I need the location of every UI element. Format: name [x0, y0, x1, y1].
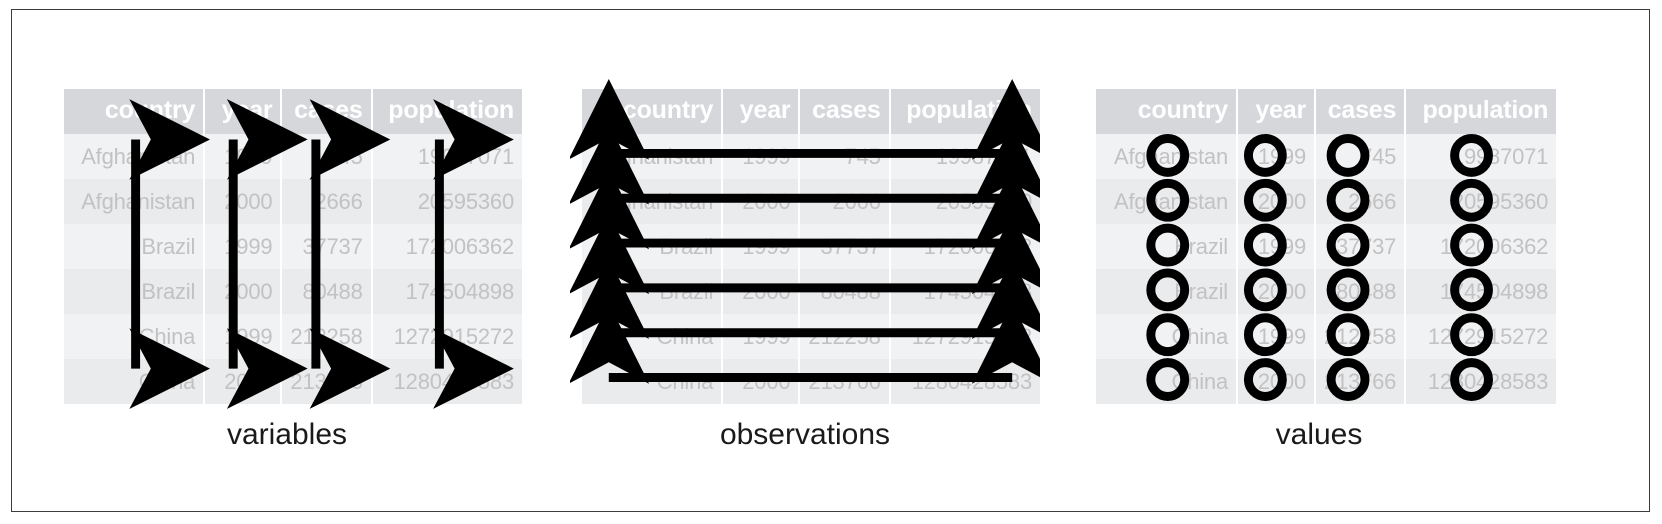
panel-observations: country year cases population Afghanista… [570, 10, 1040, 511]
cell-cases: 213766 [1316, 359, 1406, 404]
cell-cases: 212258 [282, 314, 372, 359]
cell-country: Afghanistan [64, 134, 205, 179]
cell-year: 1999 [205, 224, 282, 269]
cell-country: Afghanistan [582, 179, 723, 224]
cell-year: 2000 [1238, 359, 1316, 404]
table-row: Brazil 1999 37737 172006362 [64, 224, 522, 269]
cell-year: 1999 [205, 314, 282, 359]
table-row: China 2000 213766 1280428583 [1096, 359, 1556, 404]
table-row: Brazil 2000 80488 174504898 [1096, 269, 1556, 314]
cell-country: Brazil [582, 224, 723, 269]
column-header-country: country [1096, 89, 1238, 134]
column-header-country: country [64, 89, 205, 134]
cell-cases: 213766 [282, 359, 372, 404]
cell-year: 1999 [1238, 134, 1316, 179]
cell-country: China [64, 314, 205, 359]
table-row: China 1999 212258 1272915272 [1096, 314, 1556, 359]
table-row: Afghanistan 1999 745 19987071 [582, 134, 1040, 179]
table-row: Afghanistan 2000 2666 20595360 [582, 179, 1040, 224]
cell-population: 1272915272 [891, 314, 1040, 359]
cell-year: 2000 [723, 359, 800, 404]
table-header-row: country year cases population [64, 89, 522, 134]
column-header-year: year [205, 89, 282, 134]
cell-year: 2000 [205, 179, 282, 224]
cell-population: 174504898 [1406, 269, 1556, 314]
cell-cases: 80488 [800, 269, 890, 314]
cell-country: China [582, 314, 723, 359]
table-row: Brazil 2000 80488 174504898 [64, 269, 522, 314]
cell-country: Afghanistan [1096, 179, 1238, 224]
cell-population: 20595360 [373, 179, 522, 224]
cell-population: 172006362 [891, 224, 1040, 269]
cell-cases: 745 [282, 134, 372, 179]
cell-country: China [64, 359, 205, 404]
cell-population: 19987071 [373, 134, 522, 179]
cell-year: 2000 [1238, 269, 1316, 314]
column-header-year: year [723, 89, 800, 134]
cell-country: China [1096, 359, 1238, 404]
cell-country: China [1096, 314, 1238, 359]
table-header-row: country year cases population [582, 89, 1040, 134]
cell-cases: 80488 [1316, 269, 1406, 314]
cell-population: 172006362 [373, 224, 522, 269]
cell-cases: 37737 [1316, 224, 1406, 269]
column-header-country: country [582, 89, 723, 134]
cell-country: Brazil [64, 269, 205, 314]
cell-country: Afghanistan [582, 134, 723, 179]
table-row: Brazil 1999 37737 172006362 [582, 224, 1040, 269]
cell-year: 1999 [1238, 314, 1316, 359]
cell-cases: 2666 [800, 179, 890, 224]
column-header-population: population [891, 89, 1040, 134]
cell-country: Brazil [64, 224, 205, 269]
table-row: China 2000 213766 1280428583 [64, 359, 522, 404]
cell-year: 1999 [1238, 224, 1316, 269]
table-row: Afghanistan 1999 745 19987071 [64, 134, 522, 179]
table-row: Afghanistan 2000 2666 20595360 [64, 179, 522, 224]
data-table-variables: country year cases population Afghanista… [64, 89, 522, 404]
cell-year: 1999 [723, 134, 800, 179]
caption-values: values [1084, 418, 1554, 452]
cell-country: Afghanistan [1096, 134, 1238, 179]
cell-cases: 37737 [800, 224, 890, 269]
caption-observations: observations [570, 418, 1040, 452]
data-table-observations: country year cases population Afghanista… [582, 89, 1040, 404]
panel-values: country year cases population Afghanista… [1084, 10, 1629, 511]
figure-frame: country year cases population Afghanista… [11, 9, 1650, 512]
caption-variables: variables [52, 418, 522, 452]
cell-population: 19987071 [1406, 134, 1556, 179]
cell-cases: 745 [1316, 134, 1406, 179]
cell-year: 2000 [205, 359, 282, 404]
column-header-cases: cases [282, 89, 372, 134]
column-header-population: population [373, 89, 522, 134]
column-header-year: year [1238, 89, 1316, 134]
cell-cases: 80488 [282, 269, 372, 314]
cell-country: Brazil [582, 269, 723, 314]
cell-population: 1280428583 [373, 359, 522, 404]
cell-cases: 2666 [282, 179, 372, 224]
column-header-cases: cases [800, 89, 890, 134]
cell-year: 2000 [205, 269, 282, 314]
cell-population: 1272915272 [373, 314, 522, 359]
data-table-values: country year cases population Afghanista… [1096, 89, 1556, 404]
table-row: China 1999 212258 1272915272 [582, 314, 1040, 359]
cell-population: 20595360 [891, 179, 1040, 224]
column-header-population: population [1406, 89, 1556, 134]
cell-population: 174504898 [891, 269, 1040, 314]
cell-cases: 213766 [800, 359, 890, 404]
cell-cases: 212258 [1316, 314, 1406, 359]
cell-cases: 2666 [1316, 179, 1406, 224]
cell-country: China [582, 359, 723, 404]
cell-year: 1999 [205, 134, 282, 179]
table-row: Brazil 2000 80488 174504898 [582, 269, 1040, 314]
cell-population: 20595360 [1406, 179, 1556, 224]
cell-population: 1280428583 [1406, 359, 1556, 404]
cell-cases: 37737 [282, 224, 372, 269]
cell-year: 1999 [723, 314, 800, 359]
cell-year: 2000 [723, 269, 800, 314]
table-row: China 2000 213766 1280428583 [582, 359, 1040, 404]
cell-population: 174504898 [373, 269, 522, 314]
table-row: China 1999 212258 1272915272 [64, 314, 522, 359]
cell-year: 2000 [1238, 179, 1316, 224]
cell-country: Brazil [1096, 269, 1238, 314]
cell-population: 172006362 [1406, 224, 1556, 269]
cell-cases: 212258 [800, 314, 890, 359]
table-row: Afghanistan 1999 745 19987071 [1096, 134, 1556, 179]
cell-year: 2000 [723, 179, 800, 224]
cell-population: 19987071 [891, 134, 1040, 179]
column-header-cases: cases [1316, 89, 1406, 134]
table-row: Afghanistan 2000 2666 20595360 [1096, 179, 1556, 224]
panel-variables: country year cases population Afghanista… [52, 10, 522, 511]
cell-country: Afghanistan [64, 179, 205, 224]
cell-year: 1999 [723, 224, 800, 269]
cell-cases: 745 [800, 134, 890, 179]
cell-population: 1280428583 [891, 359, 1040, 404]
cell-population: 1272915272 [1406, 314, 1556, 359]
table-header-row: country year cases population [1096, 89, 1556, 134]
table-row: Brazil 1999 37737 172006362 [1096, 224, 1556, 269]
cell-country: Brazil [1096, 224, 1238, 269]
